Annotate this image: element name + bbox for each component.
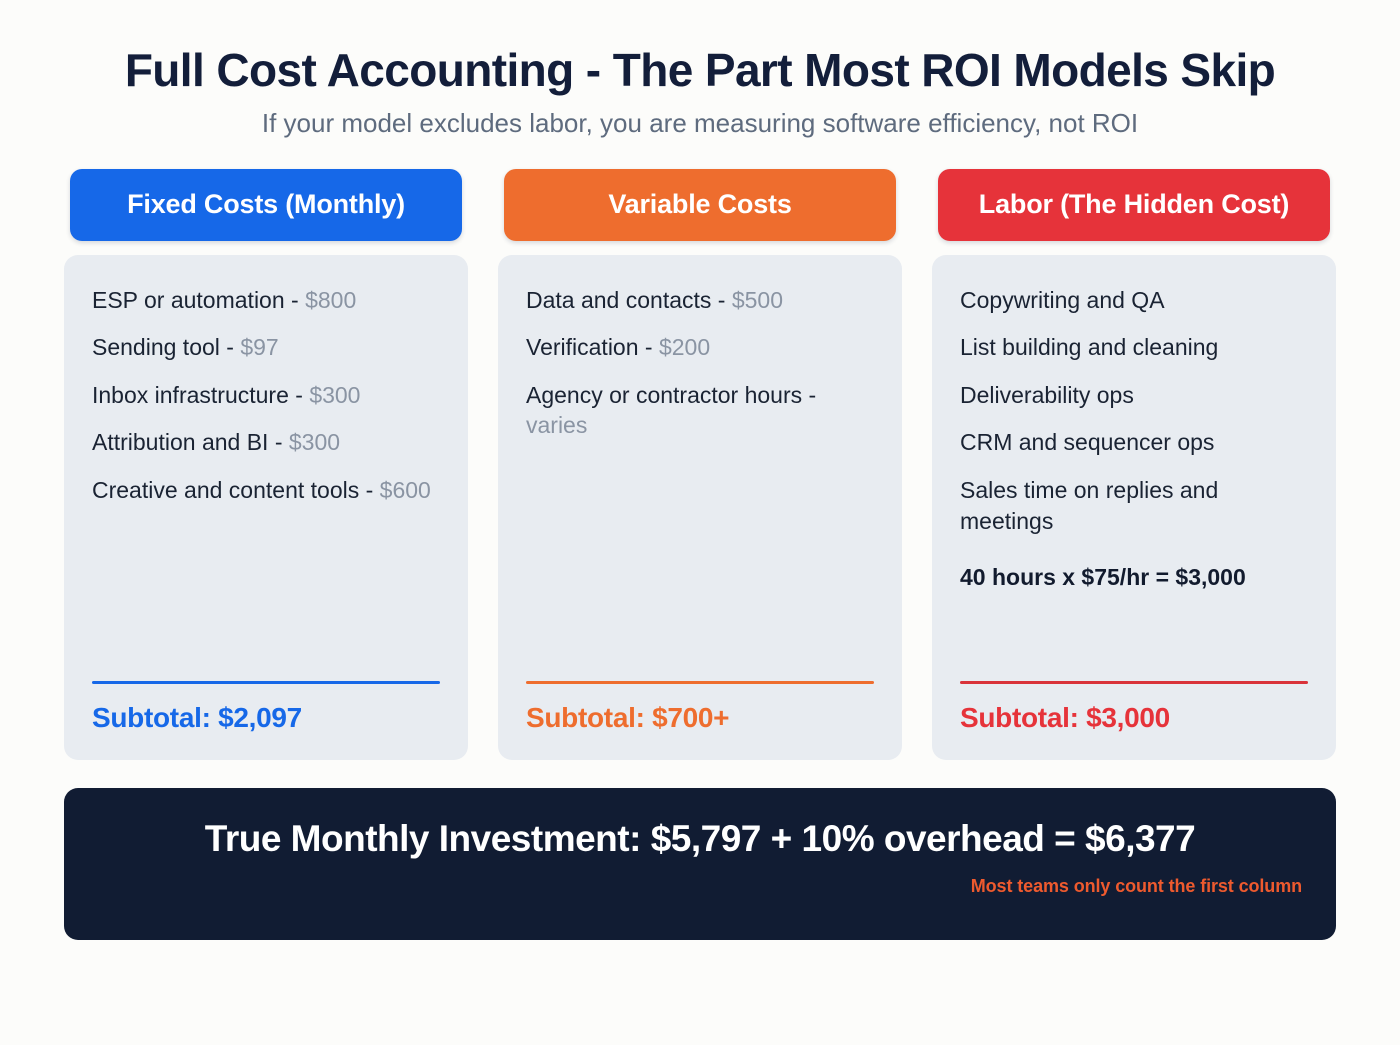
page-subtitle: If your model excludes labor, you are me…	[60, 109, 1340, 139]
item-list-fixed-costs: ESP or automation - $800 Sending tool - …	[92, 285, 440, 681]
item-label: Agency or contractor hours -	[526, 382, 816, 408]
column-body-variable-costs: Data and contacts - $500 Verification - …	[498, 255, 902, 760]
item-label: Creative and content tools -	[92, 477, 380, 503]
total-banner: True Monthly Investment: $5,797 + 10% ov…	[64, 788, 1336, 940]
item-value: varies	[526, 412, 587, 438]
item-label: Attribution and BI -	[92, 429, 289, 455]
item-label: Data and contacts -	[526, 287, 732, 313]
item-value: $300	[309, 382, 360, 408]
infographic-root: Full Cost Accounting - The Part Most ROI…	[0, 0, 1400, 1045]
item-label: Sending tool -	[92, 334, 240, 360]
list-item: List building and cleaning	[960, 332, 1308, 363]
list-item: Creative and content tools - $600	[92, 475, 440, 506]
list-item: Deliverability ops	[960, 380, 1308, 411]
column-header-variable-costs: Variable Costs	[504, 169, 896, 241]
list-item: Sales time on replies and meetings	[960, 475, 1308, 536]
item-label: Inbox infrastructure -	[92, 382, 309, 408]
subtotal-divider	[960, 681, 1308, 684]
list-item: Verification - $200	[526, 332, 874, 363]
list-item: Copywriting and QA	[960, 285, 1308, 316]
column-fixed-costs: Fixed Costs (Monthly) ESP or automation …	[64, 169, 468, 760]
list-item: Attribution and BI - $300	[92, 427, 440, 458]
footer-wrap: True Monthly Investment: $5,797 + 10% ov…	[0, 760, 1400, 940]
item-list-labor: Copywriting and QA List building and cle…	[960, 285, 1308, 681]
cost-columns: Fixed Costs (Monthly) ESP or automation …	[0, 139, 1400, 760]
list-item: Sending tool - $97	[92, 332, 440, 363]
subtotal-labor: Subtotal: $3,000	[960, 702, 1308, 734]
subtotal-divider	[92, 681, 440, 684]
item-value: $97	[240, 334, 278, 360]
item-value: $300	[289, 429, 340, 455]
total-headline: True Monthly Investment: $5,797 + 10% ov…	[98, 818, 1302, 860]
list-item: CRM and sequencer ops	[960, 427, 1308, 458]
column-header-fixed-costs: Fixed Costs (Monthly)	[70, 169, 462, 241]
subtotal-fixed-costs: Subtotal: $2,097	[92, 702, 440, 734]
item-value: $600	[380, 477, 431, 503]
column-body-fixed-costs: ESP or automation - $800 Sending tool - …	[64, 255, 468, 760]
labor-calculation: 40 hours x $75/hr = $3,000	[960, 562, 1308, 593]
header-block: Full Cost Accounting - The Part Most ROI…	[0, 0, 1400, 139]
list-item: Inbox infrastructure - $300	[92, 380, 440, 411]
column-variable-costs: Variable Costs Data and contacts - $500 …	[498, 169, 902, 760]
list-item: Agency or contractor hours - varies	[526, 380, 874, 441]
list-item: Data and contacts - $500	[526, 285, 874, 316]
column-body-labor: Copywriting and QA List building and cle…	[932, 255, 1336, 760]
total-note: Most teams only count the first column	[98, 876, 1302, 897]
item-value: $500	[732, 287, 783, 313]
item-label: ESP or automation -	[92, 287, 305, 313]
item-list-variable-costs: Data and contacts - $500 Verification - …	[526, 285, 874, 681]
subtotal-variable-costs: Subtotal: $700+	[526, 702, 874, 734]
page-title: Full Cost Accounting - The Part Most ROI…	[60, 46, 1340, 95]
item-value: $200	[659, 334, 710, 360]
column-header-labor: Labor (The Hidden Cost)	[938, 169, 1330, 241]
column-labor: Labor (The Hidden Cost) Copywriting and …	[932, 169, 1336, 760]
list-item: ESP or automation - $800	[92, 285, 440, 316]
item-label: Verification -	[526, 334, 659, 360]
item-value: $800	[305, 287, 356, 313]
subtotal-divider	[526, 681, 874, 684]
